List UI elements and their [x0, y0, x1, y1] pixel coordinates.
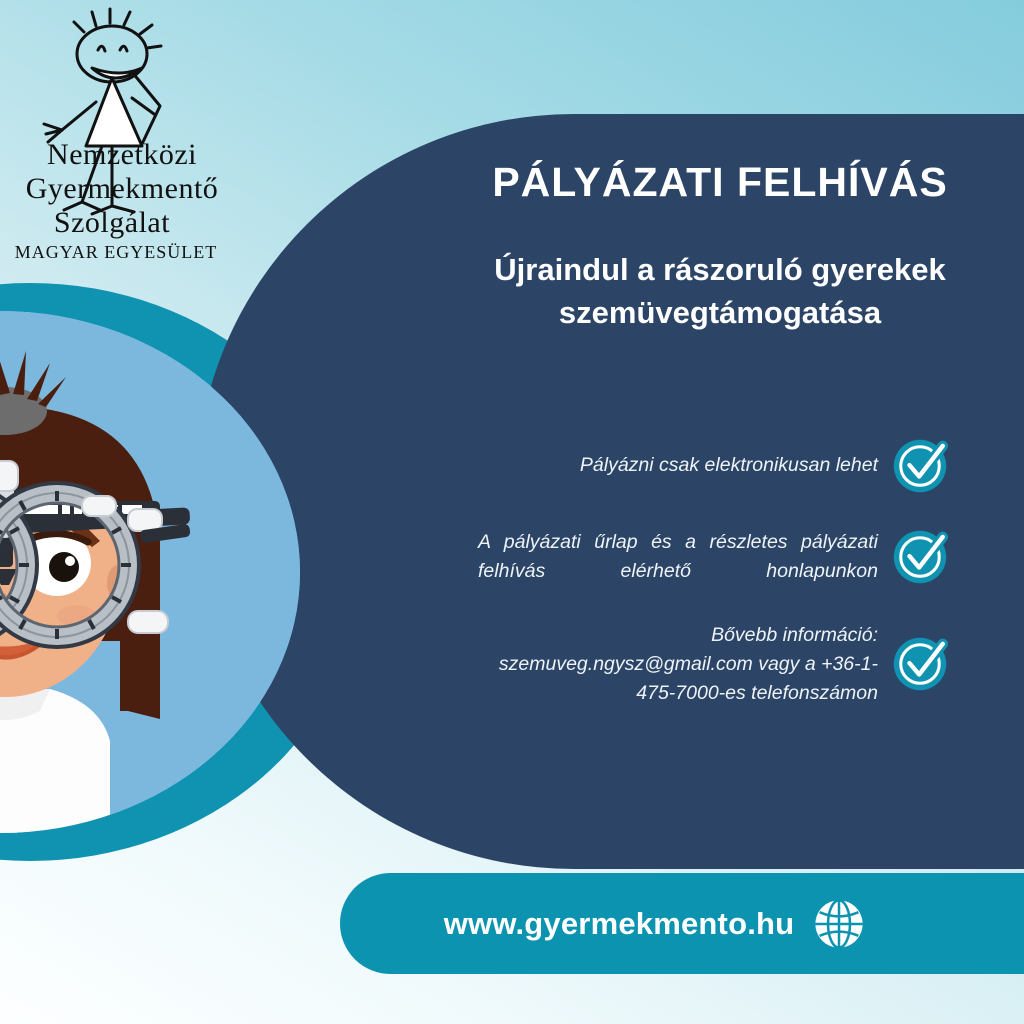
- check-circle-icon: [892, 438, 948, 494]
- bullet-text-1: Pályázni csak elektronikusan lehet: [478, 451, 878, 480]
- organization-logo: Nemzetközi Gyermekmentő Szolgálat MAGYAR…: [14, 6, 234, 268]
- check-circle-icon: [892, 636, 948, 692]
- logo-subtitle: MAGYAR EGYESÜLET: [15, 242, 218, 262]
- logo-line-2: Gyermekmentő: [26, 172, 219, 205]
- bullet-text-3: Bővebb információ: szemuveg.ngysz@gmail.…: [478, 621, 878, 709]
- list-item: Bővebb információ: szemuveg.ngysz@gmail.…: [478, 621, 948, 709]
- list-item: A pályázati űrlap és a részletes pályáza…: [478, 528, 948, 587]
- heading-block: PÁLYÁZATI FELHÍVÁS Újraindul a rászoruló…: [430, 160, 1010, 335]
- child-stick-figure-icon: Nemzetközi Gyermekmentő Szolgálat MAGYAR…: [14, 6, 234, 268]
- page-subtitle-line1: Újraindul a rászoruló gyerekek: [430, 249, 1010, 292]
- logo-line-3: Szolgálat: [54, 206, 170, 239]
- page-subtitle: Újraindul a rászoruló gyerekek szemüvegt…: [430, 249, 1010, 335]
- bullet-text-2: A pályázati űrlap és a részletes pályáza…: [478, 528, 878, 587]
- website-url[interactable]: www.gyermekmento.hu: [444, 906, 795, 942]
- check-circle-icon: [892, 529, 948, 585]
- globe-icon: [812, 897, 866, 951]
- page-subtitle-line2: szemüvegtámogatása: [430, 292, 1010, 335]
- page-title: PÁLYÁZATI FELHÍVÁS: [430, 160, 1010, 205]
- list-item: Pályázni csak elektronikusan lehet: [478, 438, 948, 494]
- website-footer-bar[interactable]: www.gyermekmento.hu: [340, 873, 1024, 974]
- bullet-list: Pályázni csak elektronikusan lehet A pál…: [478, 438, 948, 708]
- logo-line-1: Nemzetközi: [47, 138, 197, 171]
- poster-canvas: Nemzetközi Gyermekmentő Szolgálat MAGYAR…: [0, 0, 1024, 1024]
